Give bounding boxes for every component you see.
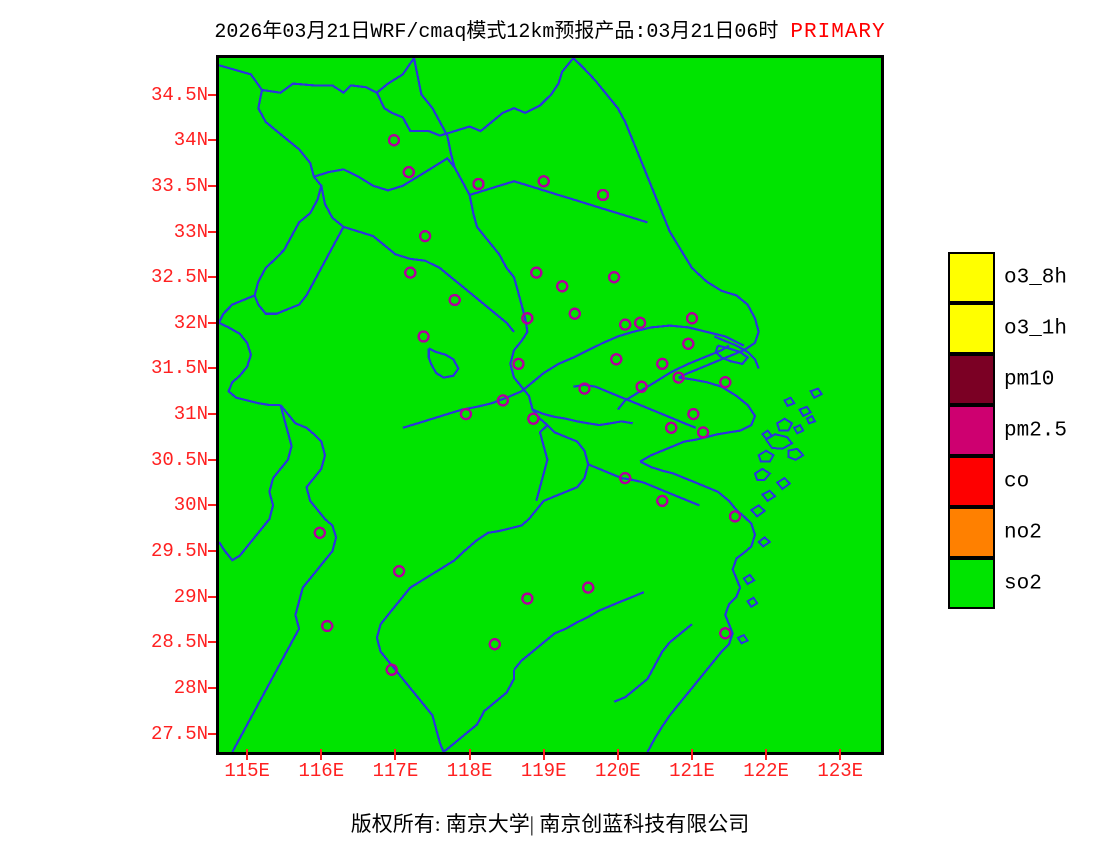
y-axis-label: 32.5N [151, 266, 208, 288]
y-axis-label: 29N [174, 586, 208, 608]
x-axis-tick [765, 749, 767, 760]
y-axis-label: 27.5N [151, 723, 208, 745]
station-marker[interactable] [420, 231, 430, 241]
station-marker[interactable] [474, 179, 484, 189]
boundary-line [219, 323, 281, 405]
station-marker[interactable] [490, 639, 500, 649]
island-outline [794, 425, 803, 433]
x-axis-tick [691, 749, 693, 760]
island-outline [762, 491, 775, 501]
station-marker[interactable] [720, 377, 730, 387]
y-axis: 34.5N34N33.5N33N32.5N32N31.5N31N30.5N30N… [130, 55, 208, 755]
island-outline [788, 449, 803, 460]
station-marker[interactable] [528, 414, 538, 424]
station-marker[interactable] [666, 423, 676, 433]
boundary-line [321, 186, 514, 332]
island-outline [744, 575, 754, 584]
x-axis-label: 118E [447, 760, 493, 782]
y-axis-label: 30.5N [151, 449, 208, 471]
x-axis-label: 119E [521, 760, 567, 782]
legend-item-o31h[interactable]: o3_1h [948, 303, 1090, 354]
x-axis-tick [839, 749, 841, 760]
station-marker[interactable] [583, 583, 593, 593]
island-outline [755, 469, 770, 480]
station-marker[interactable] [322, 621, 332, 631]
station-marker[interactable] [389, 135, 399, 145]
boundary-line [533, 410, 633, 426]
x-axis-label: 121E [669, 760, 715, 782]
legend-item-pm25[interactable]: pm2.5 [948, 405, 1090, 456]
legend-item-label: pm10 [1004, 368, 1054, 391]
y-axis-label: 30N [174, 494, 208, 516]
x-axis-label: 120E [595, 760, 641, 782]
y-axis-label: 33.5N [151, 175, 208, 197]
island-outline [811, 389, 822, 398]
station-markers [315, 135, 740, 675]
x-axis-tick [469, 749, 471, 760]
station-marker[interactable] [657, 359, 667, 369]
legend-item-so2[interactable]: so2 [948, 558, 1090, 609]
pollutant-legend: o3_8ho3_1hpm10pm2.5cono2so2 [948, 252, 1090, 609]
station-marker[interactable] [720, 628, 730, 638]
station-marker[interactable] [404, 167, 414, 177]
station-marker[interactable] [635, 318, 645, 328]
y-axis-label: 28.5N [151, 631, 208, 653]
province-boundaries [219, 58, 744, 752]
map-frame [216, 55, 884, 755]
legend-item-label: o3_8h [1004, 266, 1067, 289]
legend-item-o38h[interactable]: o3_8h [948, 252, 1090, 303]
station-marker[interactable] [687, 313, 697, 323]
legend-color-swatch [948, 252, 995, 303]
station-marker[interactable] [657, 496, 667, 506]
legend-color-swatch [948, 558, 995, 609]
boundary-line [314, 158, 455, 190]
coastline [573, 58, 821, 752]
station-marker[interactable] [394, 566, 404, 576]
island-outline [807, 416, 815, 423]
boundary-line [514, 592, 644, 670]
legend-item-pm10[interactable]: pm10 [948, 354, 1090, 405]
legend-item-label: no2 [1004, 521, 1042, 544]
station-marker[interactable] [514, 359, 524, 369]
legend-color-swatch [948, 507, 995, 558]
boundary-line [410, 425, 588, 587]
boundary-line [429, 348, 459, 377]
station-marker[interactable] [461, 409, 471, 419]
x-axis-label: 115E [224, 760, 270, 782]
y-axis-label: 34N [174, 129, 208, 151]
boundary-line [588, 464, 699, 505]
station-marker[interactable] [730, 511, 740, 521]
station-marker[interactable] [688, 409, 698, 419]
island-outline [785, 398, 795, 406]
island-outline [751, 505, 764, 516]
station-marker[interactable] [450, 295, 460, 305]
boundary-line [614, 624, 692, 702]
station-marker[interactable] [611, 354, 621, 364]
station-marker[interactable] [531, 268, 541, 278]
x-axis-label: 123E [817, 760, 863, 782]
boundary-line [232, 405, 336, 752]
island-outline [800, 407, 811, 416]
station-marker[interactable] [522, 594, 532, 604]
legend-color-swatch [948, 303, 995, 354]
chart-title: 2026年03月21日WRF/cmaq模式12km预报产品:03月21日06时P… [0, 14, 1100, 44]
copyright-footer: 版权所有: 南京大学| 南京创蓝科技有限公司 [0, 808, 1100, 838]
station-marker[interactable] [609, 272, 619, 282]
legend-item-label: pm2.5 [1004, 419, 1067, 442]
station-marker[interactable] [683, 339, 693, 349]
y-axis-label: 31.5N [151, 357, 208, 379]
y-axis-label: 28N [174, 677, 208, 699]
coastline-path [573, 58, 758, 378]
y-axis-label: 29.5N [151, 540, 208, 562]
boundary-line [470, 181, 648, 222]
station-marker[interactable] [598, 190, 608, 200]
island-outline [759, 451, 774, 462]
boundary-line [219, 405, 292, 560]
coastline-path [640, 378, 755, 462]
station-marker[interactable] [405, 268, 415, 278]
station-marker[interactable] [698, 427, 708, 437]
legend-item-co[interactable]: co [948, 456, 1090, 507]
x-axis-tick [543, 749, 545, 760]
station-marker[interactable] [557, 281, 567, 291]
x-axis-label: 116E [298, 760, 344, 782]
legend-item-no2[interactable]: no2 [948, 507, 1090, 558]
x-axis-tick [246, 749, 248, 760]
x-axis-label: 122E [743, 760, 789, 782]
island-outline [738, 635, 748, 643]
boundary-line [573, 385, 695, 428]
boundary-line [444, 670, 514, 752]
island-outline [762, 431, 772, 439]
map-canvas [219, 58, 881, 752]
boundary-line [255, 227, 344, 314]
station-marker[interactable] [570, 309, 580, 319]
x-axis: 115E116E117E118E119E120E121E122E123E [216, 760, 884, 790]
legend-item-label: o3_1h [1004, 317, 1067, 340]
station-marker[interactable] [620, 320, 630, 330]
y-axis-label: 34.5N [151, 84, 208, 106]
y-axis-label: 31N [174, 403, 208, 425]
legend-color-swatch [948, 405, 995, 456]
legend-item-label: so2 [1004, 572, 1042, 595]
boundary-line [536, 425, 547, 501]
island-outline [777, 419, 792, 431]
y-axis-label: 33N [174, 221, 208, 243]
boundary-line [219, 90, 321, 323]
island-outline [748, 598, 758, 607]
station-marker[interactable] [522, 313, 532, 323]
station-marker[interactable] [539, 176, 549, 186]
x-axis-tick [320, 749, 322, 760]
chart-title-main: 2026年03月21日WRF/cmaq模式12km预报产品:03月21日06时 [214, 21, 778, 44]
map-plot-area[interactable] [216, 55, 884, 755]
chart-title-primary-badge: PRIMARY [790, 21, 885, 44]
x-axis-label: 117E [373, 760, 419, 782]
x-axis-tick [394, 749, 396, 760]
island-outline [777, 478, 790, 489]
legend-color-swatch [948, 354, 995, 405]
legend-item-label: co [1004, 470, 1029, 493]
station-marker[interactable] [315, 528, 325, 538]
boundary-line [219, 58, 414, 93]
y-axis-label: 32N [174, 312, 208, 334]
legend-color-swatch [948, 456, 995, 507]
x-axis-tick [617, 749, 619, 760]
station-marker[interactable] [419, 332, 429, 342]
island-outline [759, 537, 770, 546]
